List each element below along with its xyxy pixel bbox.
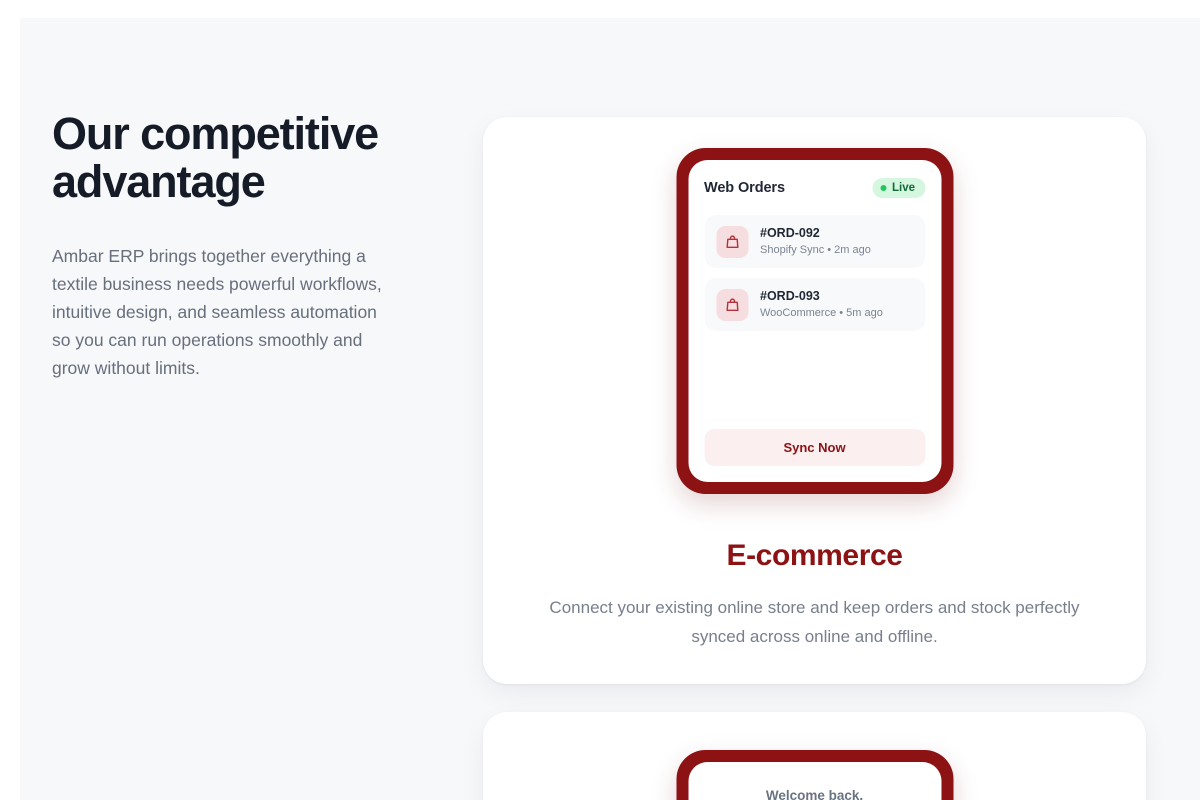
order-meta: WooCommerce • 5m ago — [760, 305, 883, 321]
list-item[interactable]: #ORD-092 Shopify Sync • 2m ago — [704, 215, 925, 268]
page-root: Our competitive advantage Ambar ERP brin… — [0, 0, 1200, 800]
feature-card-ecommerce: Web Orders Live — [483, 117, 1146, 684]
feature-caption: E-commerce Connect your existing online … — [483, 539, 1146, 651]
status-badge-live: Live — [873, 178, 925, 198]
sync-now-button[interactable]: Sync Now — [704, 429, 925, 466]
order-id: #ORD-092 — [760, 225, 871, 241]
status-badge-label: Live — [892, 182, 915, 194]
content-plane: Our competitive advantage Ambar ERP brin… — [20, 18, 1200, 800]
mockup-screen: Welcome back, — [688, 762, 941, 800]
list-item[interactable]: #ORD-093 WooCommerce • 5m ago — [704, 278, 925, 331]
order-text: #ORD-093 WooCommerce • 5m ago — [760, 288, 883, 321]
feature-description: Connect your existing online store and k… — [529, 593, 1100, 651]
order-list: #ORD-092 Shopify Sync • 2m ago — [704, 215, 925, 331]
order-text: #ORD-092 Shopify Sync • 2m ago — [760, 225, 871, 258]
welcome-message: Welcome back, — [704, 788, 925, 800]
intro-column: Our competitive advantage Ambar ERP brin… — [52, 110, 452, 382]
mockup-title: Web Orders — [704, 180, 785, 196]
status-dot-icon — [881, 185, 887, 191]
order-id: #ORD-093 — [760, 288, 883, 304]
page-title: Our competitive advantage — [52, 110, 382, 206]
shopping-bag-icon — [716, 226, 748, 258]
device-mockup-web-orders: Web Orders Live — [676, 148, 953, 494]
device-mockup-welcome: Welcome back, — [676, 750, 953, 800]
order-meta: Shopify Sync • 2m ago — [760, 242, 871, 258]
intro-paragraph: Ambar ERP brings together everything a t… — [52, 242, 392, 382]
feature-column: Web Orders Live — [483, 117, 1146, 800]
mockup-screen: Web Orders Live — [688, 160, 941, 482]
mockup-header: Web Orders Live — [704, 178, 925, 198]
shopping-bag-icon — [716, 289, 748, 321]
spacer — [704, 331, 925, 429]
feature-title: E-commerce — [529, 539, 1100, 573]
feature-card-next: Welcome back, — [483, 712, 1146, 800]
